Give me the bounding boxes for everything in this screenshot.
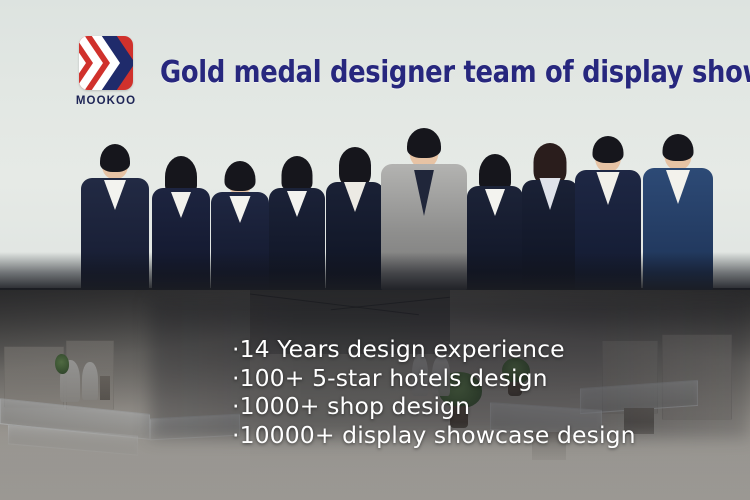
list-item: ·1000+ shop design <box>232 392 750 421</box>
list-item: ·14 Years design experience <box>232 335 750 364</box>
photo-fade-divider <box>0 252 750 290</box>
page-title: Gold medal designer team of display show… <box>160 52 657 92</box>
header-section: MOOKOO Gold medal designer team of displ… <box>0 0 750 290</box>
mookoo-chevron-logo-icon <box>79 36 133 90</box>
brand-logo: MOOKOO <box>70 36 142 116</box>
list-item: ·10000+ display showcase design <box>232 421 750 450</box>
promo-banner: MOOKOO Gold medal designer team of displ… <box>0 0 750 500</box>
list-item: ·100+ 5-star hotels design <box>232 364 750 393</box>
brand-name: MOOKOO <box>70 95 142 107</box>
highlights-list: ·14 Years design experience ·100+ 5-star… <box>232 335 750 449</box>
